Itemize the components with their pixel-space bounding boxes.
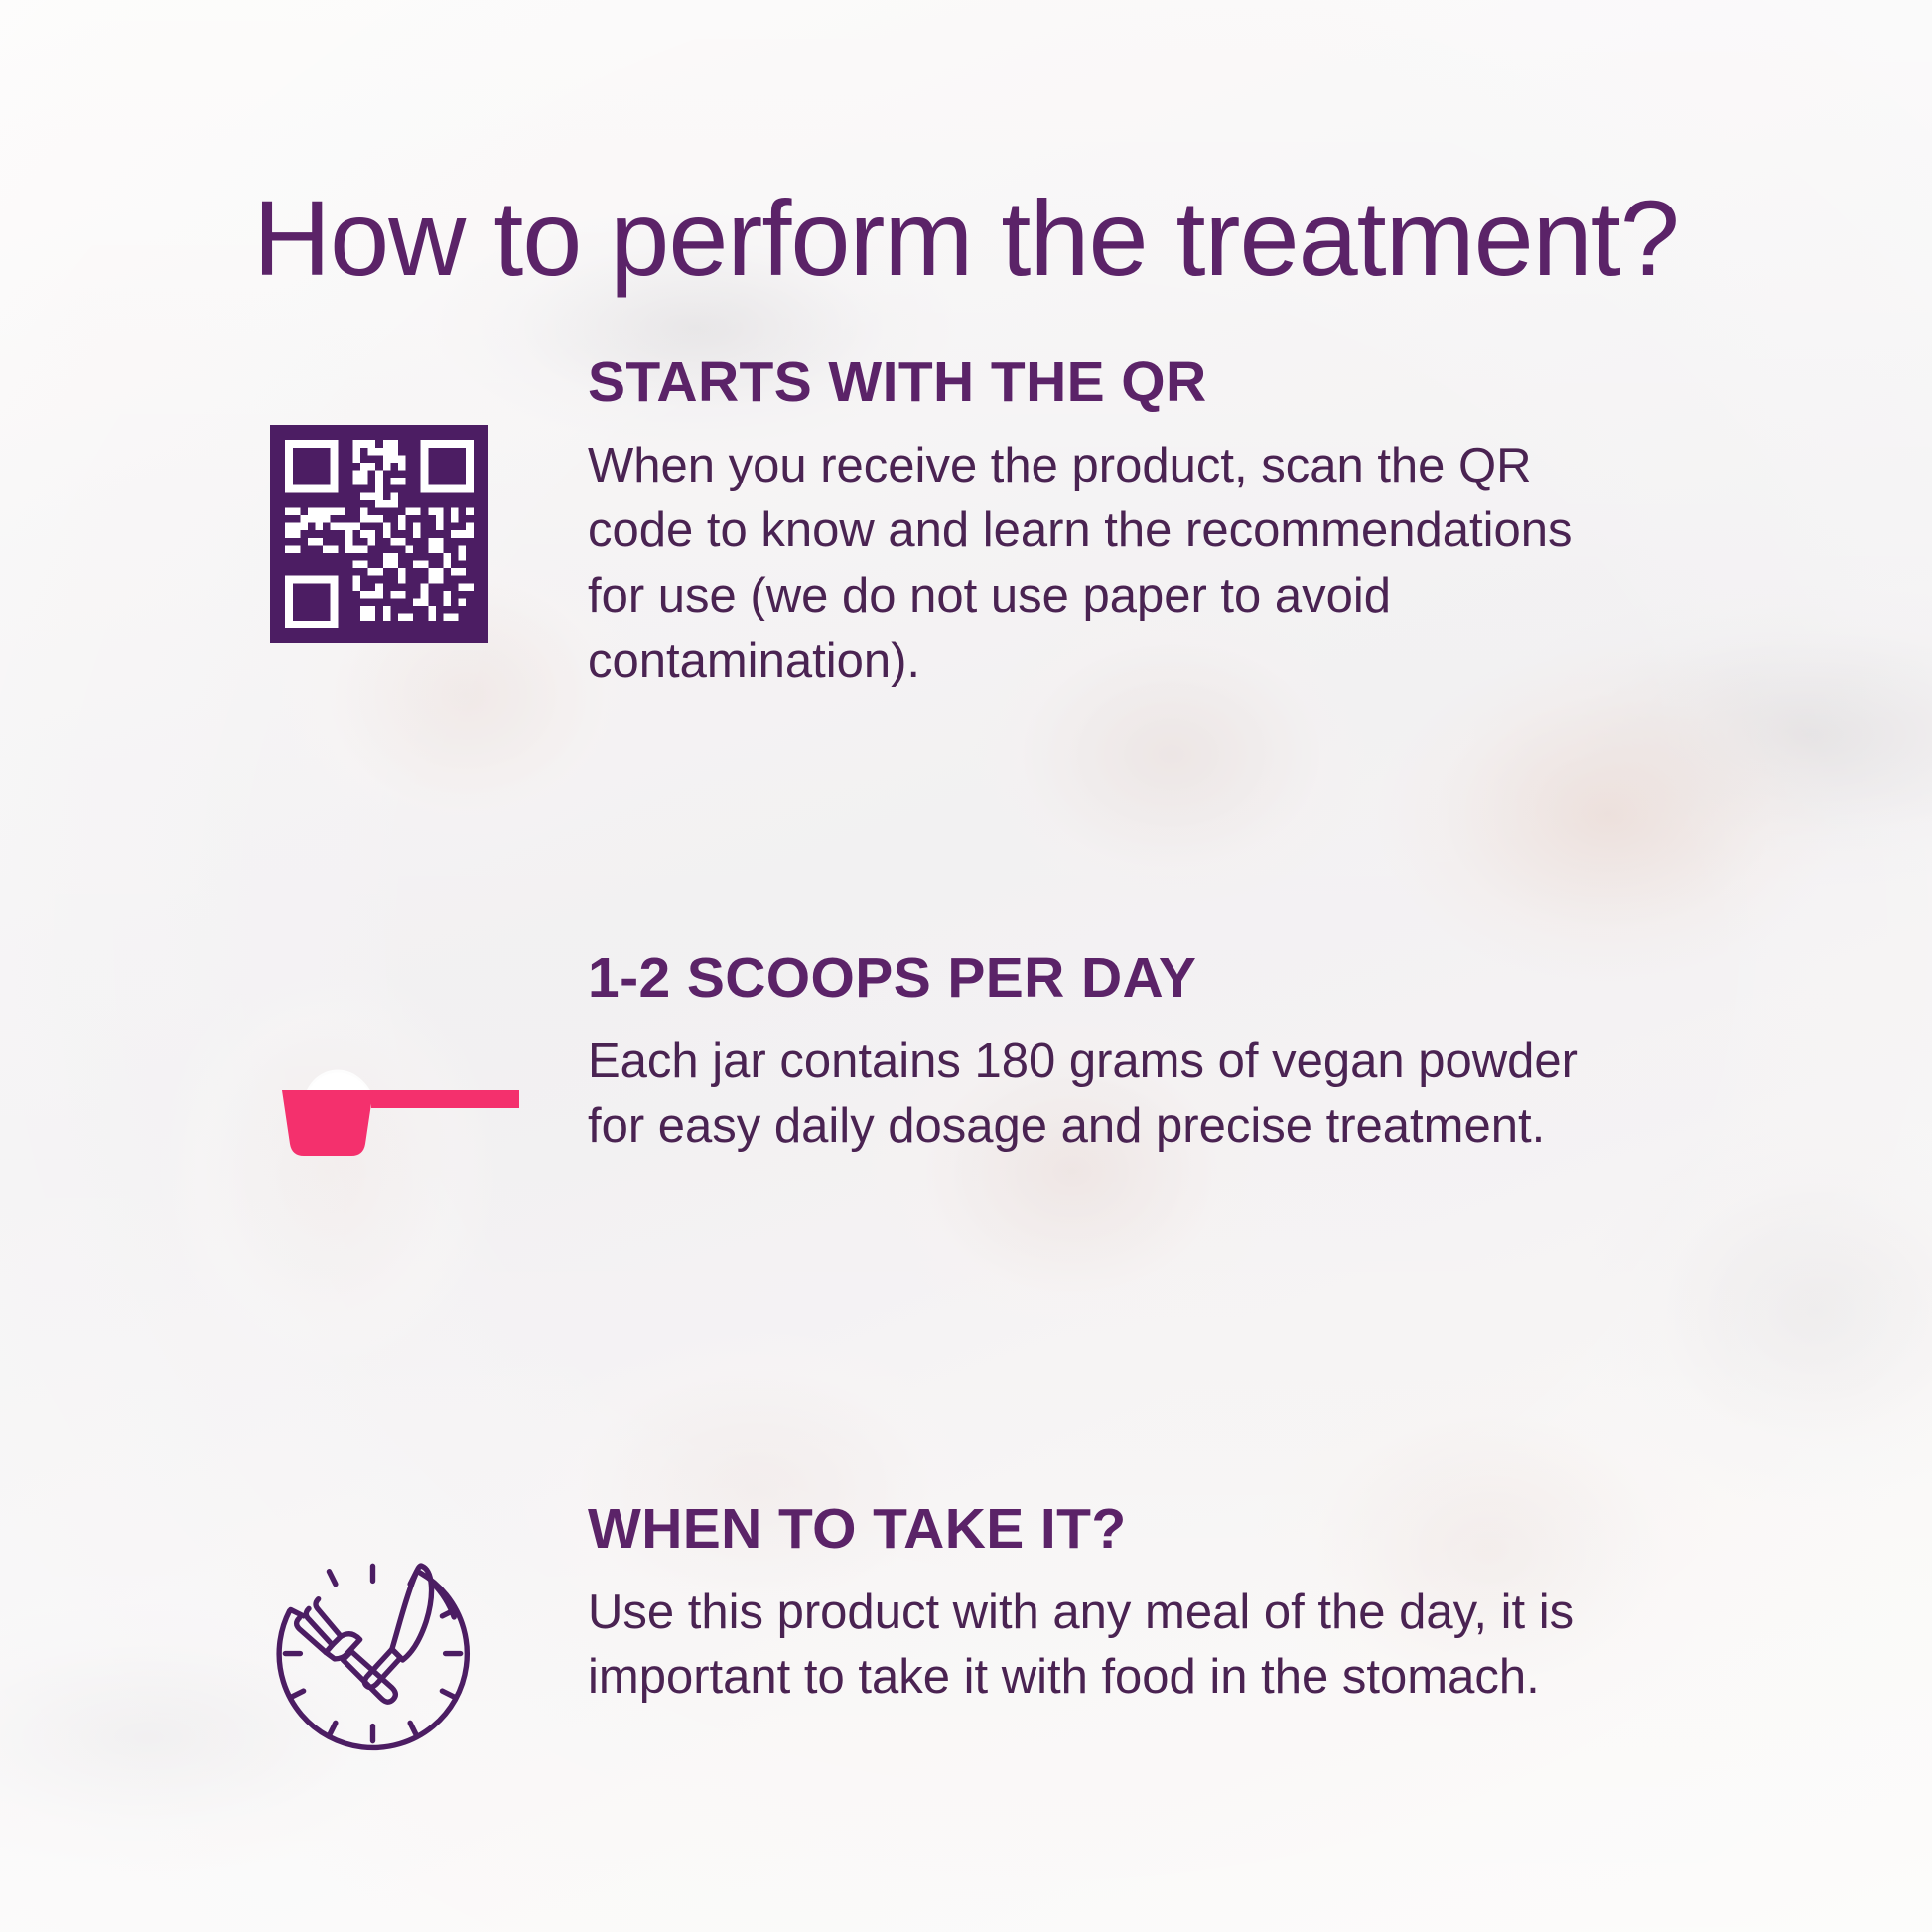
- section-text: WHEN TO TAKE IT? Use this product with a…: [588, 1499, 1590, 1711]
- section-body: Use this product with any meal of the da…: [588, 1581, 1590, 1711]
- content-layer: How to perform the treatment?: [0, 0, 1932, 1932]
- section-heading: 1-2 SCOOPS PER DAY: [588, 948, 1590, 1010]
- section-scoops-per-day: 1-2 SCOOPS PER DAY Each jar contains 180…: [0, 948, 1932, 1276]
- measuring-scoop-icon: [276, 1052, 519, 1176]
- clock-with-cutlery-icon: [266, 1547, 480, 1765]
- section-when-to-take-it: WHEN TO TAKE IT? Use this product with a…: [0, 1499, 1932, 1827]
- section-body: Each jar contains 180 grams of vegan pow…: [588, 1030, 1590, 1160]
- section-body: When you receive the product, scan the Q…: [588, 434, 1590, 695]
- section-heading: STARTS WITH THE QR: [588, 352, 1590, 414]
- page-title: How to perform the treatment?: [0, 179, 1932, 299]
- section-text: 1-2 SCOOPS PER DAY Each jar contains 180…: [588, 948, 1590, 1160]
- qr-code-icon: [270, 425, 488, 648]
- section-text: STARTS WITH THE QR When you receive the …: [588, 352, 1590, 694]
- section-starts-with-the-qr: STARTS WITH THE QR When you receive the …: [0, 352, 1932, 680]
- section-heading: WHEN TO TAKE IT?: [588, 1499, 1590, 1561]
